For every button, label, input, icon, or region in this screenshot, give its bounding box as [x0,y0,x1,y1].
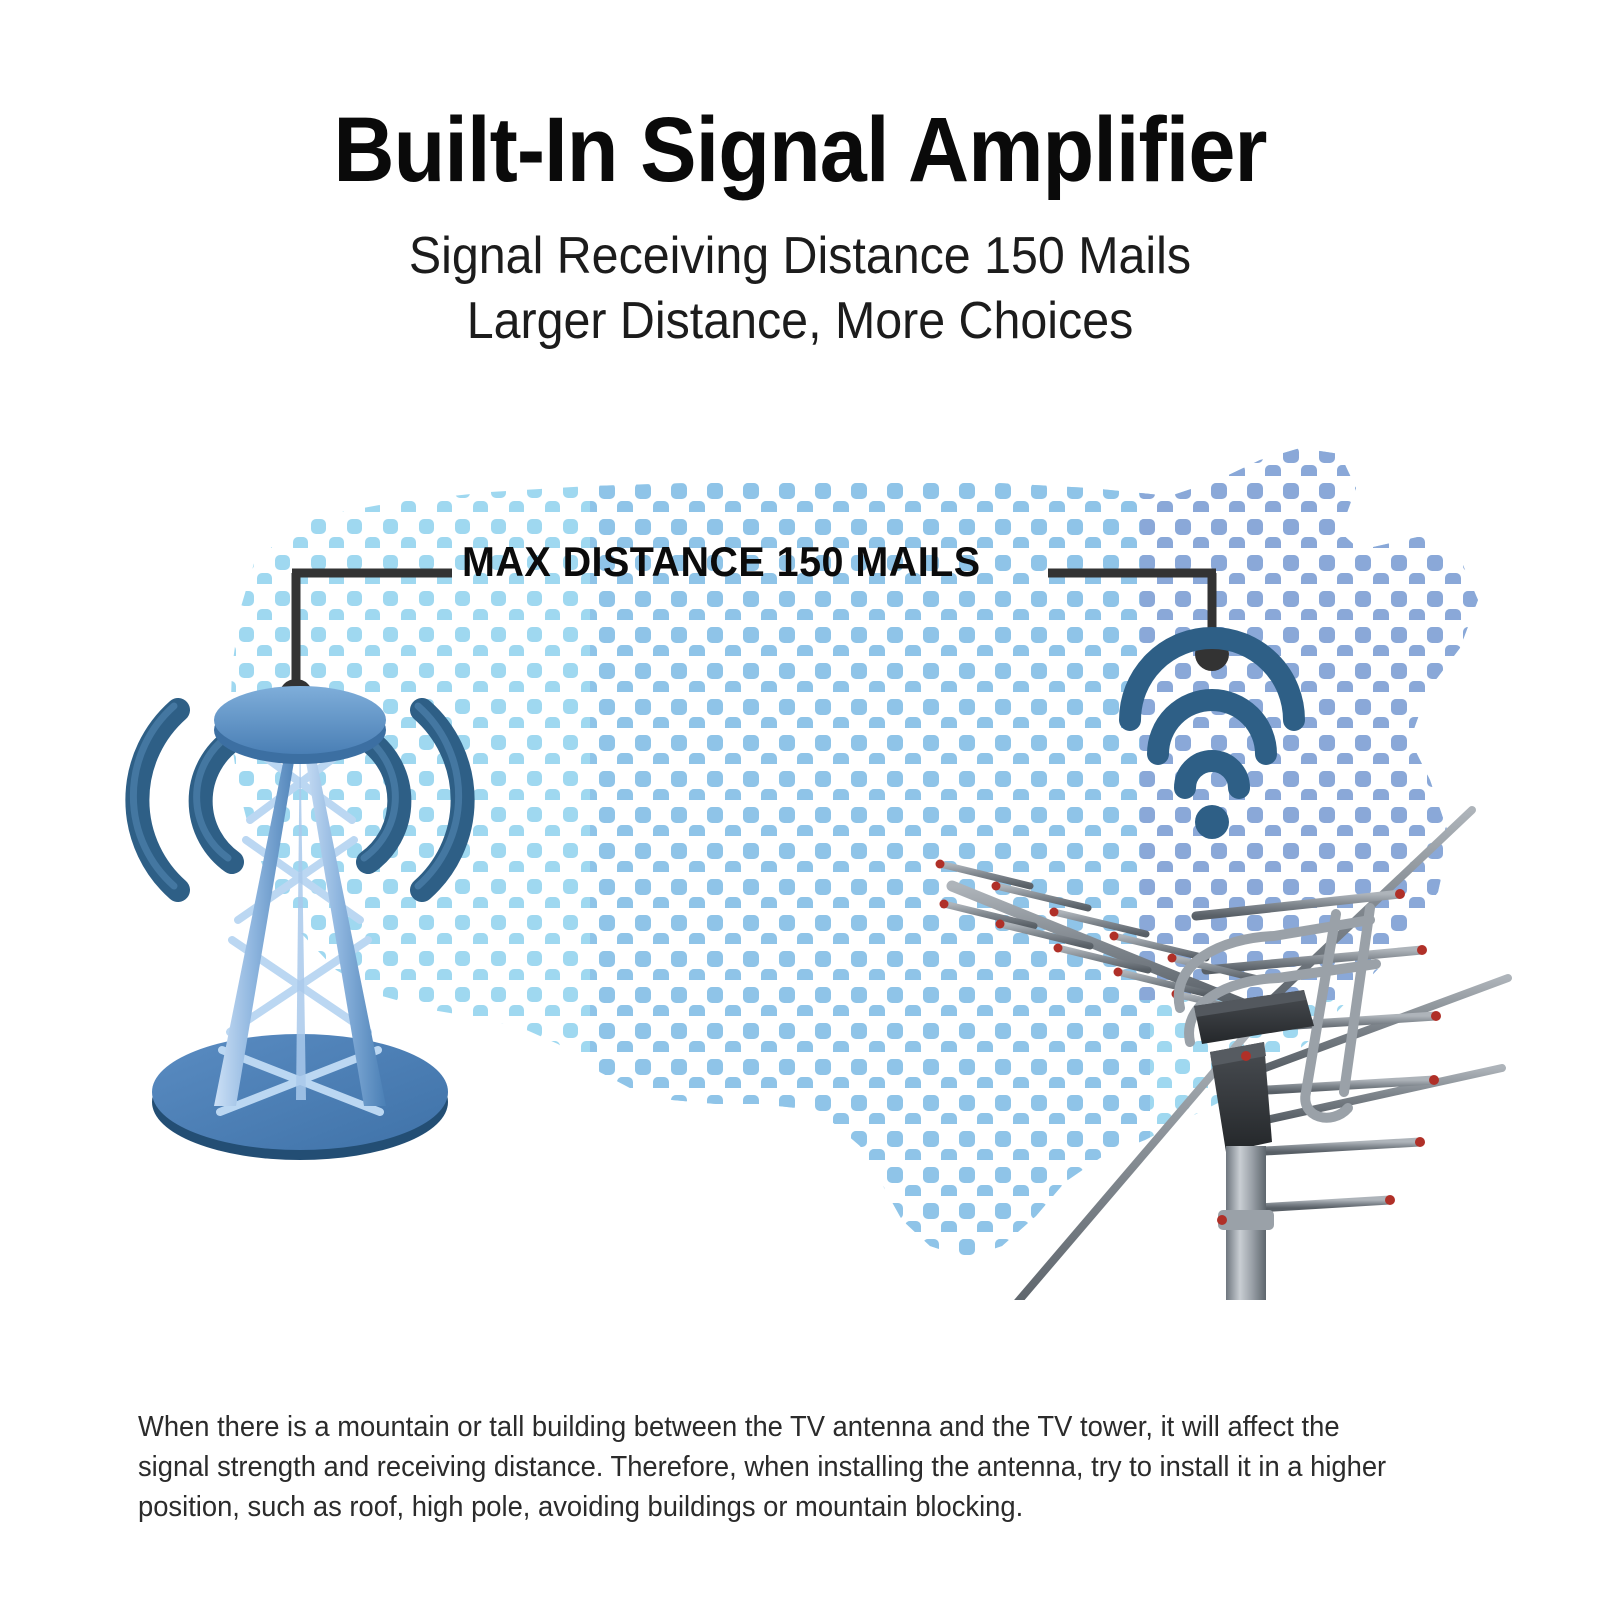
diagram-stage [0,400,1600,1300]
antenna-rotor-housing [1210,1042,1272,1152]
page-title: Built-In Signal Amplifier [64,104,1536,196]
footer-note: When there is a mountain or tall buildin… [138,1407,1415,1527]
tower-dish-top [214,686,386,764]
header: Built-In Signal Amplifier Signal Receivi… [0,0,1600,354]
subtitle-block: Signal Receiving Distance 150 Mails Larg… [0,224,1600,354]
antenna-mast [1218,1146,1274,1300]
subtitle-line-2: Larger Distance, More Choices [56,289,1544,354]
subtitle-line-1: Signal Receiving Distance 150 Mails [56,224,1544,289]
callout-max-distance-label: MAX DISTANCE 150 MAILS [462,538,981,586]
